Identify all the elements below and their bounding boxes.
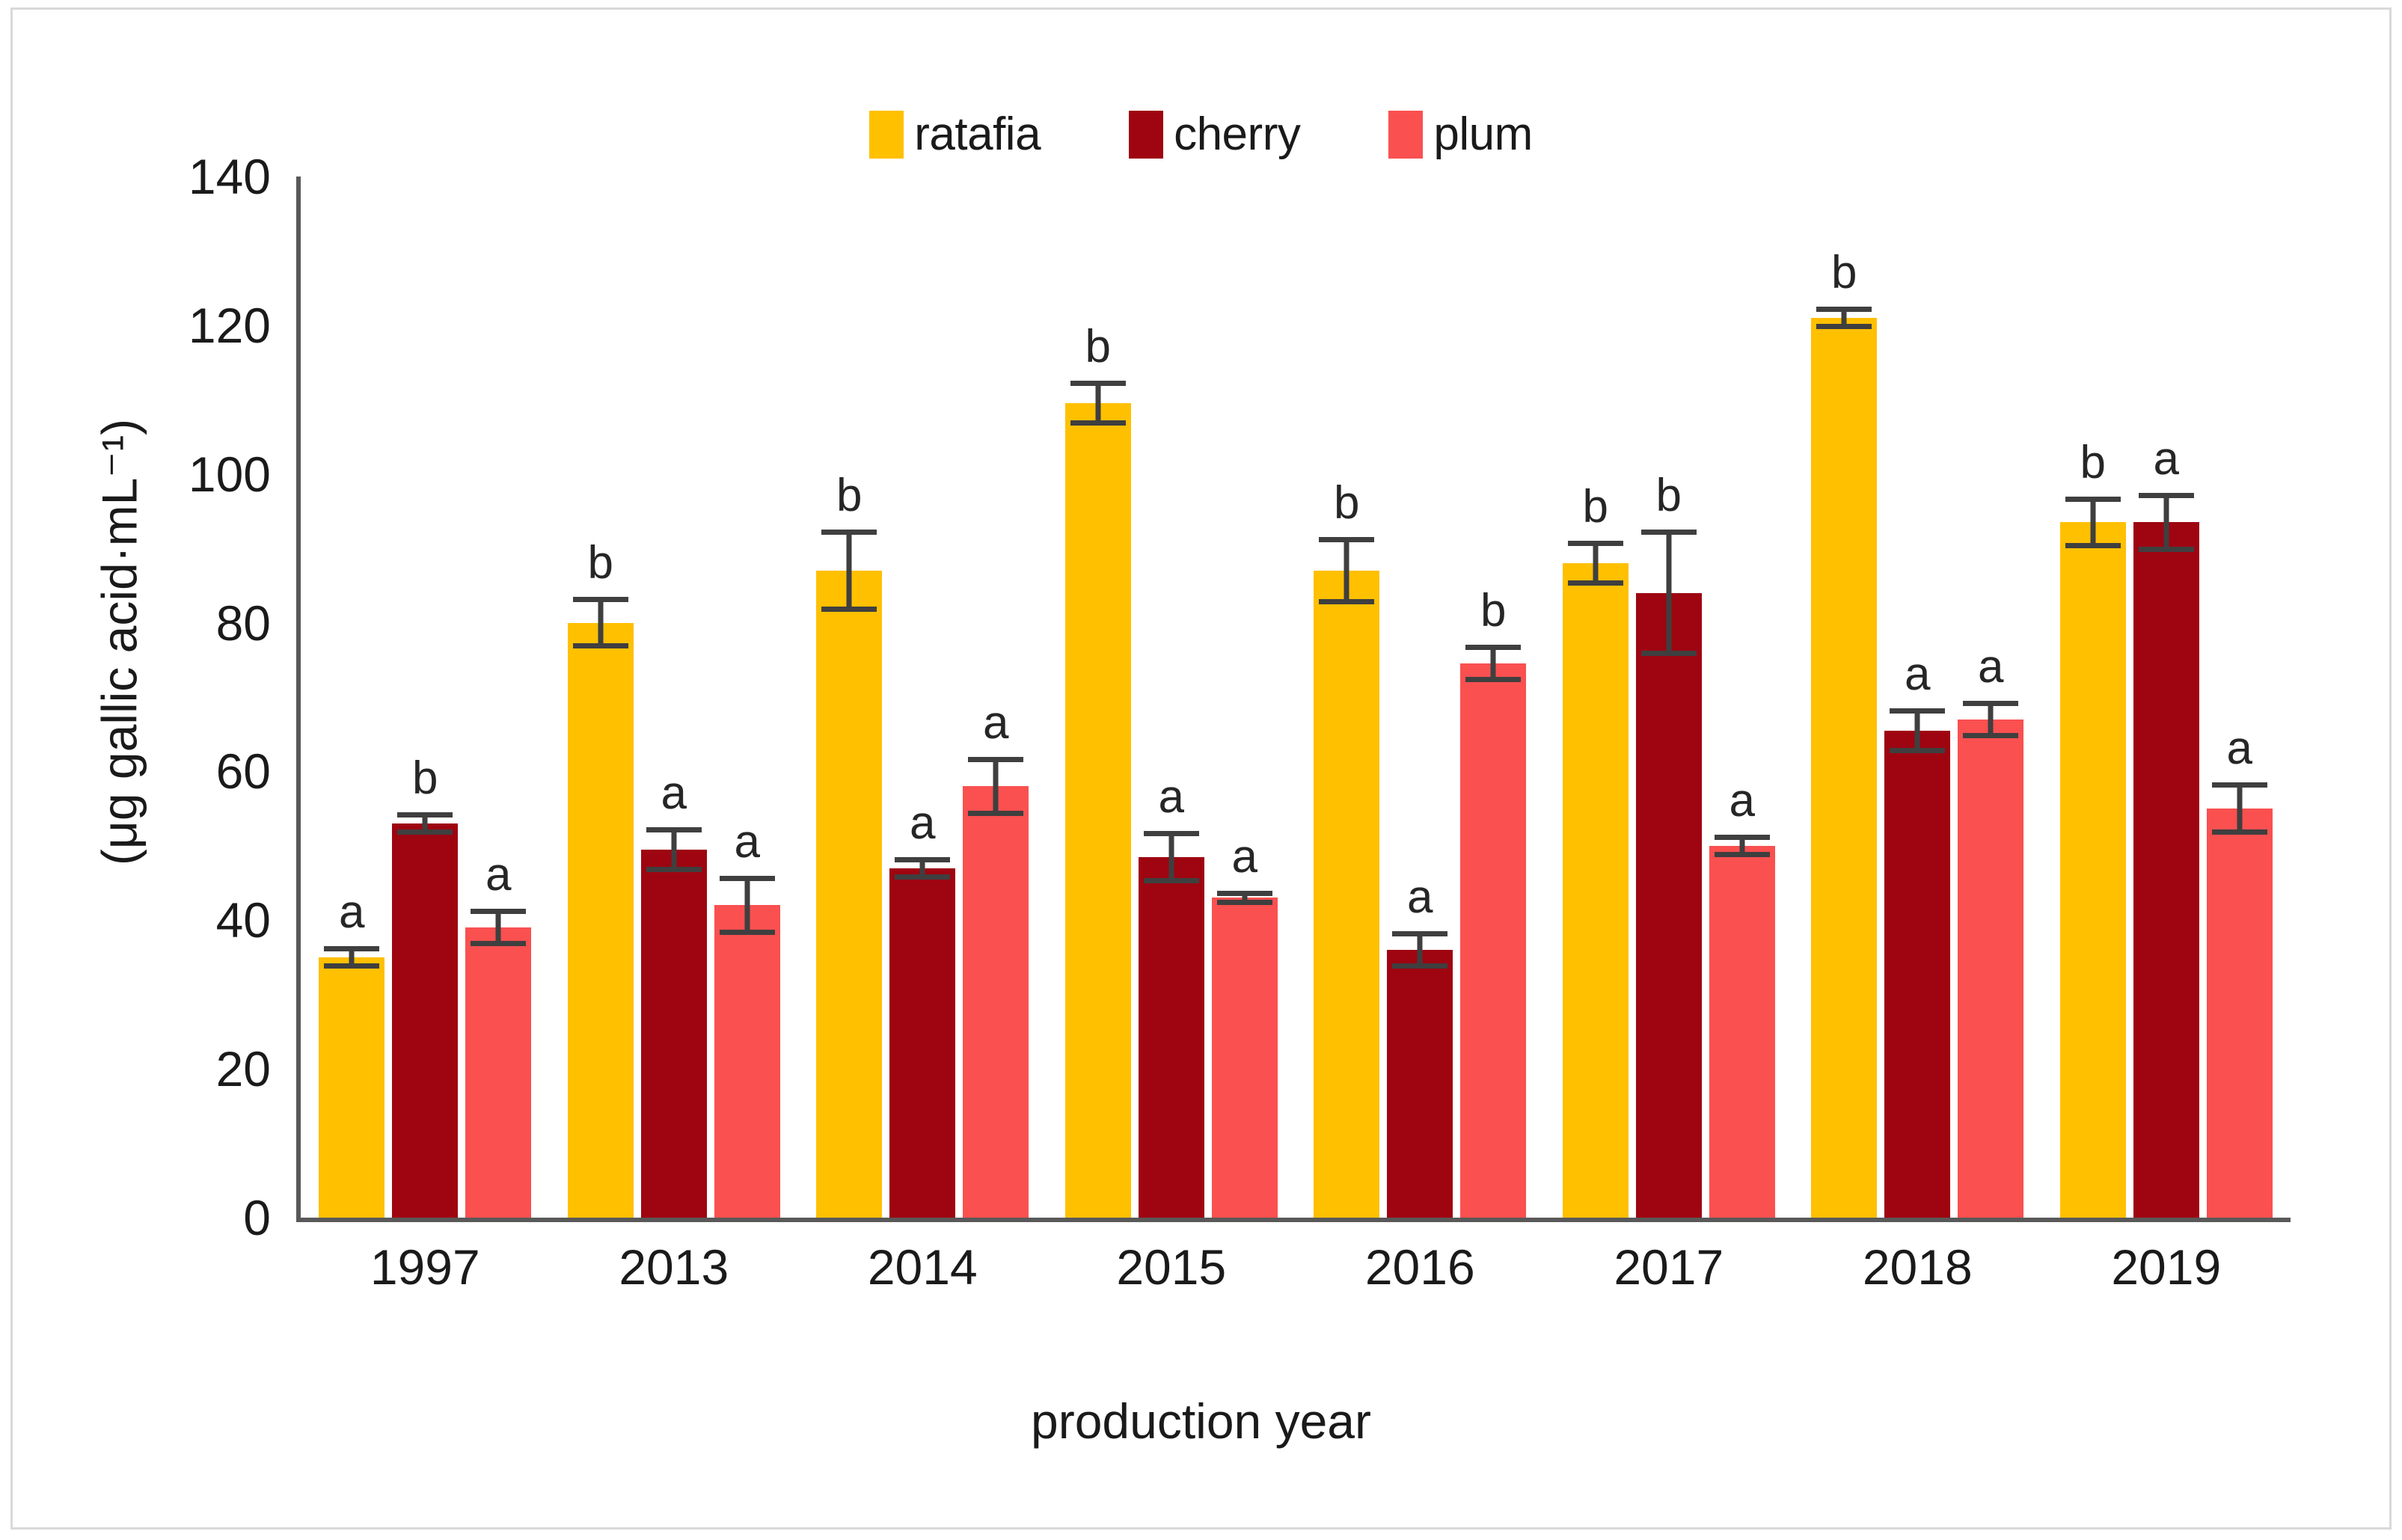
- error-bar-cap-bottom: [1641, 651, 1697, 656]
- x-tick-label-2017: 2017: [1545, 1239, 1794, 1295]
- error-bar-cap-top: [646, 827, 702, 832]
- error-bar-cap-bottom: [1070, 420, 1126, 426]
- error-bar-stem: [1168, 831, 1174, 883]
- bars-row: baa: [2042, 177, 2291, 1218]
- error-bar-plum-2019: [2212, 782, 2267, 835]
- error-bar-cap-bottom: [1963, 733, 2018, 738]
- error-bar-cap-top: [324, 946, 379, 951]
- y-tick-label: 40: [54, 892, 271, 948]
- error-bar-cherry-1997: [397, 812, 453, 835]
- bar-group-2017: bba: [1545, 177, 1794, 1218]
- x-tick-label-2015: 2015: [1047, 1239, 1296, 1295]
- y-tick-label: 120: [54, 297, 271, 354]
- error-bar-cap-bottom: [968, 811, 1023, 816]
- error-bar-plum-2018: [1963, 701, 2018, 738]
- error-bar-cap-top: [1144, 831, 1199, 836]
- bar-slot-ratafia-2016: b: [1314, 177, 1379, 1218]
- significance-letter-cherry-2017: b: [1656, 473, 1682, 519]
- bar-plum-2015[interactable]: [1212, 898, 1278, 1218]
- bars-row: bab: [1296, 177, 1545, 1218]
- bar-cherry-2015[interactable]: [1139, 857, 1204, 1218]
- error-bar-ratafia-2015: [1070, 381, 1126, 426]
- significance-letter-cherry-2018: a: [1905, 651, 1930, 698]
- error-bar-cap-top: [1890, 708, 1945, 714]
- error-bar-plum-2017: [1715, 835, 1770, 857]
- error-bar-cap-bottom: [397, 829, 453, 835]
- error-bar-ratafia-1997: [324, 946, 379, 969]
- y-tick-label: 60: [54, 743, 271, 800]
- figure-container: ratafiacherryplum (μg gallic acid·mL⁻¹) …: [0, 0, 2402, 1540]
- significance-letter-plum-2018: a: [1978, 644, 2003, 690]
- x-tick-label-2013: 2013: [550, 1239, 799, 1295]
- bar-cherry-2018[interactable]: [1884, 731, 1950, 1218]
- error-bar-plum-2014: [968, 757, 1023, 817]
- bars-row: baa: [1793, 177, 2042, 1218]
- bar-cherry-2016[interactable]: [1387, 950, 1453, 1218]
- significance-letter-ratafia-2015: b: [1085, 324, 1111, 370]
- y-tick-label: 20: [54, 1040, 271, 1097]
- error-bar-cap-bottom: [2212, 829, 2267, 835]
- error-bar-stem: [744, 876, 750, 936]
- bar-group-container: ababaabaabaababbbabaabaa: [301, 177, 2291, 1218]
- bar-slot-cherry-2018: a: [1884, 177, 1950, 1218]
- y-tick-label: 80: [54, 595, 271, 651]
- significance-letter-plum-1997: a: [485, 852, 511, 898]
- x-tick-label-group: 19972013201420152016201720182019: [301, 1239, 2291, 1295]
- error-bar-cherry-2014: [895, 857, 950, 880]
- bar-slot-ratafia-2018: b: [1811, 177, 1877, 1218]
- error-bar-cap-bottom: [1217, 900, 1272, 905]
- bar-ratafia-2019[interactable]: [2060, 522, 2126, 1218]
- error-bar-stem: [1915, 708, 1920, 753]
- chart-legend: ratafiacherryplum: [0, 111, 2402, 159]
- error-bar-cherry-2017: [1641, 530, 1697, 656]
- bar-slot-plum-2015: a: [1212, 177, 1278, 1218]
- error-bar-cap-bottom: [2139, 547, 2194, 552]
- bar-slot-plum-2019: a: [2207, 177, 2273, 1218]
- bar-slot-cherry-2015: a: [1139, 177, 1204, 1218]
- error-bar-cap-bottom: [1144, 878, 1199, 883]
- error-bar-cap-top: [895, 857, 950, 862]
- error-bar-stem: [1344, 537, 1349, 604]
- bar-slot-cherry-2013: a: [641, 177, 707, 1218]
- bar-plum-2018[interactable]: [1958, 720, 2023, 1218]
- error-bar-ratafia-2017: [1568, 541, 1623, 586]
- error-bar-cap-top: [397, 812, 453, 817]
- error-bar-cap-bottom: [1816, 324, 1872, 329]
- legend-label-plum: plum: [1433, 111, 1532, 158]
- bar-plum-2019[interactable]: [2207, 809, 2273, 1218]
- bar-plum-1997[interactable]: [465, 927, 531, 1218]
- error-bar-ratafia-2018: [1816, 307, 1872, 329]
- bar-slot-plum-2013: a: [714, 177, 780, 1218]
- error-bar-cap-top: [1963, 701, 2018, 706]
- significance-letter-ratafia-2014: b: [836, 473, 862, 519]
- error-bar-cap-bottom: [821, 607, 877, 612]
- bar-slot-ratafia-2019: b: [2060, 177, 2126, 1218]
- bar-plum-2016[interactable]: [1460, 663, 1526, 1218]
- significance-letter-plum-2019: a: [2227, 725, 2252, 772]
- significance-letter-cherry-1997: b: [412, 755, 438, 802]
- bar-slot-ratafia-2015: b: [1065, 177, 1131, 1218]
- significance-letter-cherry-2014: a: [910, 800, 935, 847]
- bar-ratafia-2015[interactable]: [1065, 403, 1131, 1218]
- significance-letter-ratafia-1997: a: [339, 889, 364, 936]
- error-bar-cap-bottom: [895, 874, 950, 880]
- error-bar-cap-bottom: [1568, 580, 1623, 586]
- error-bar-cherry-2015: [1144, 831, 1199, 883]
- x-tick-label-2016: 2016: [1296, 1239, 1545, 1295]
- significance-letter-cherry-2013: a: [661, 770, 687, 817]
- bar-group-2018: baa: [1793, 177, 2042, 1218]
- bars-row: baa: [798, 177, 1047, 1218]
- error-bar-cherry-2018: [1890, 708, 1945, 753]
- error-bar-ratafia-2019: [2065, 497, 2121, 549]
- error-bar-cap-top: [471, 909, 526, 914]
- error-bar-cherry-2016: [1392, 931, 1447, 969]
- error-bar-plum-2013: [720, 876, 775, 936]
- error-bar-cap-bottom: [1715, 852, 1770, 857]
- significance-letter-cherry-2016: a: [1407, 874, 1433, 921]
- bar-slot-ratafia-1997: a: [319, 177, 384, 1218]
- bar-slot-cherry-2014: a: [889, 177, 955, 1218]
- x-tick-label-1997: 1997: [301, 1239, 550, 1295]
- y-tick-label: 100: [54, 446, 271, 503]
- x-tick-label-2014: 2014: [798, 1239, 1047, 1295]
- error-bar-cap-bottom: [324, 963, 379, 969]
- legend-swatch-plum: [1388, 111, 1423, 159]
- x-axis-line: [296, 1218, 2291, 1222]
- bar-cherry-2013[interactable]: [641, 850, 707, 1218]
- error-bar-cap-bottom: [1319, 599, 1374, 604]
- bar-slot-cherry-2017: b: [1636, 177, 1702, 1218]
- error-bar-cap-top: [2065, 497, 2121, 502]
- significance-letter-ratafia-2017: b: [1583, 484, 1608, 530]
- error-bar-ratafia-2014: [821, 530, 877, 611]
- plot-area: 020406080100120140 ababaabaabaababbbabaa…: [301, 177, 2291, 1218]
- error-bar-ratafia-2013: [573, 597, 628, 649]
- significance-letter-plum-2014: a: [983, 700, 1008, 746]
- significance-letter-plum-2015: a: [1232, 834, 1257, 880]
- error-bar-cap-top: [1816, 307, 1872, 312]
- error-bar-stem: [2163, 493, 2169, 553]
- error-bar-stem: [1593, 541, 1598, 586]
- bar-slot-ratafia-2013: b: [568, 177, 634, 1218]
- bar-group-2016: bab: [1296, 177, 1545, 1218]
- bar-slot-plum-2017: a: [1709, 177, 1775, 1218]
- error-bar-cap-top: [821, 530, 877, 535]
- legend-item-cherry[interactable]: cherry: [1129, 111, 1300, 159]
- bar-slot-cherry-1997: b: [392, 177, 458, 1218]
- legend-item-plum[interactable]: plum: [1388, 111, 1532, 159]
- error-bar-cap-top: [1392, 931, 1447, 936]
- bar-plum-2013[interactable]: [714, 905, 780, 1218]
- error-bar-stem: [847, 530, 852, 611]
- error-bar-cap-top: [2212, 782, 2267, 788]
- error-bar-stem: [993, 757, 999, 817]
- bar-slot-plum-2018: a: [1958, 177, 2023, 1218]
- bar-cherry-1997[interactable]: [392, 823, 458, 1218]
- bar-slot-plum-2014: a: [963, 177, 1029, 1218]
- bar-group-2014: baa: [798, 177, 1047, 1218]
- error-bar-cap-top: [720, 876, 775, 881]
- significance-letter-ratafia-2019: b: [2080, 440, 2106, 486]
- error-bar-cap-top: [1715, 835, 1770, 840]
- error-bar-cap-top: [1465, 645, 1521, 650]
- bar-ratafia-1997[interactable]: [319, 957, 384, 1218]
- error-bar-stem: [2090, 497, 2095, 549]
- significance-letter-plum-2016: b: [1480, 588, 1506, 634]
- bar-ratafia-2014[interactable]: [816, 571, 882, 1218]
- error-bar-cap-bottom: [1890, 748, 1945, 753]
- error-bar-cap-bottom: [646, 867, 702, 872]
- legend-item-ratafia[interactable]: ratafia: [869, 111, 1041, 159]
- bar-ratafia-2017[interactable]: [1563, 563, 1629, 1218]
- x-axis-title: production year: [0, 1393, 2402, 1449]
- bars-row: bba: [1545, 177, 1794, 1218]
- bar-slot-plum-1997: a: [465, 177, 531, 1218]
- bar-group-2015: baa: [1047, 177, 1296, 1218]
- bar-ratafia-2018[interactable]: [1811, 318, 1877, 1218]
- bar-slot-ratafia-2014: b: [816, 177, 882, 1218]
- bar-slot-plum-2016: b: [1460, 177, 1526, 1218]
- error-bar-cap-top: [1641, 530, 1697, 535]
- x-tick-label-2018: 2018: [1793, 1239, 2042, 1295]
- error-bar-plum-2016: [1465, 645, 1521, 682]
- y-tick-label-group: 020406080100120140: [54, 177, 271, 1218]
- error-bar-plum-1997: [471, 909, 526, 946]
- significance-letter-cherry-2019: a: [2154, 436, 2179, 482]
- bar-slot-ratafia-2017: b: [1563, 177, 1629, 1218]
- error-bar-cherry-2019: [2139, 493, 2194, 553]
- significance-letter-ratafia-2018: b: [1831, 250, 1857, 296]
- significance-letter-plum-2017: a: [1729, 778, 1755, 824]
- error-bar-cap-bottom: [720, 930, 775, 935]
- error-bar-cap-top: [1319, 537, 1374, 542]
- error-bar-cap-bottom: [1392, 963, 1447, 969]
- y-tick-label: 0: [54, 1189, 271, 1246]
- bar-plum-2014[interactable]: [963, 786, 1029, 1218]
- significance-letter-ratafia-2013: b: [588, 540, 613, 586]
- bar-group-2019: baa: [2042, 177, 2291, 1218]
- legend-label-ratafia: ratafia: [914, 111, 1041, 158]
- y-tick-label: 140: [54, 148, 271, 205]
- error-bar-stem: [598, 597, 603, 649]
- bar-ratafia-2013[interactable]: [568, 623, 634, 1218]
- bar-group-1997: aba: [301, 177, 550, 1218]
- error-bar-cap-top: [573, 597, 628, 602]
- error-bar-cap-top: [1568, 541, 1623, 546]
- x-tick-label-2019: 2019: [2042, 1239, 2291, 1295]
- bars-row: aba: [301, 177, 550, 1218]
- legend-swatch-ratafia: [869, 111, 904, 159]
- legend-swatch-cherry: [1129, 111, 1163, 159]
- error-bar-ratafia-2016: [1319, 537, 1374, 604]
- error-bar-cherry-2013: [646, 827, 702, 872]
- bars-row: baa: [550, 177, 799, 1218]
- legend-label-cherry: cherry: [1174, 111, 1300, 158]
- error-bar-cap-top: [1070, 381, 1126, 386]
- error-bar-cap-top: [1217, 891, 1272, 896]
- bar-cherry-2014[interactable]: [889, 868, 955, 1218]
- bar-cherry-2017[interactable]: [1636, 593, 1702, 1218]
- bar-slot-cherry-2019: a: [2133, 177, 2199, 1218]
- significance-letter-ratafia-2016: b: [1334, 480, 1359, 527]
- significance-letter-cherry-2015: a: [1159, 774, 1184, 820]
- error-bar-stem: [1666, 530, 1671, 656]
- bar-plum-2017[interactable]: [1709, 846, 1775, 1218]
- bar-ratafia-2016[interactable]: [1314, 571, 1379, 1218]
- bar-group-2013: baa: [550, 177, 799, 1218]
- error-bar-stem: [2237, 782, 2242, 835]
- error-bar-plum-2015: [1217, 891, 1272, 906]
- bars-row: baa: [1047, 177, 1296, 1218]
- error-bar-cap-bottom: [573, 643, 628, 648]
- bar-slot-cherry-2016: a: [1387, 177, 1453, 1218]
- significance-letter-plum-2013: a: [735, 819, 760, 865]
- error-bar-cap-bottom: [1465, 677, 1521, 682]
- bar-cherry-2019[interactable]: [2133, 522, 2199, 1218]
- error-bar-cap-top: [968, 757, 1023, 762]
- error-bar-cap-top: [2139, 493, 2194, 498]
- error-bar-stem: [671, 827, 676, 872]
- error-bar-cap-bottom: [471, 941, 526, 946]
- error-bar-cap-bottom: [2065, 543, 2121, 548]
- error-bar-stem: [1095, 381, 1100, 426]
